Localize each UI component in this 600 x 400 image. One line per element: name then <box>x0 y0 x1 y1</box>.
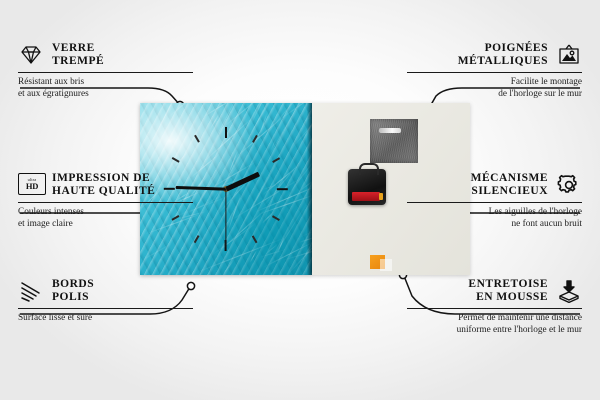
feature-desc-line1: Surface lisse et sûre <box>18 313 92 323</box>
feature-entretoise-en-mousse: ENTRETOISE EN MOUSSE Permet de maintenir… <box>407 278 582 336</box>
clock-tick-mark <box>194 135 199 143</box>
feature-desc-line1: Permet de maintenir une distance <box>458 313 582 323</box>
diamond-icon <box>18 43 44 67</box>
wall-frame-icon <box>556 43 582 67</box>
ultra-hd-icon-big-text: HD <box>26 182 38 191</box>
feather-streak <box>140 103 166 105</box>
feature-title-line1: MÉCANISME <box>471 172 548 184</box>
clock-tick-mark <box>194 235 199 243</box>
infographic-stage: VERRE TREMPÉ Résistant aux bris et aux é… <box>0 0 600 400</box>
feature-divider <box>18 202 193 203</box>
clock-tick-mark <box>272 157 280 162</box>
press-down-pad-icon <box>556 279 582 303</box>
feature-desc-line2: ne font aucun bruit <box>512 219 582 229</box>
clock-tick <box>226 188 288 190</box>
clock-movement <box>348 169 386 205</box>
clock-tick-mark <box>172 157 180 162</box>
feature-title-line2: HAUTE QUALITÉ <box>52 185 155 197</box>
hanger-slot <box>379 128 401 133</box>
feature-title-line2: TREMPÉ <box>52 55 104 67</box>
feature-title-line1: ENTRETOISE <box>468 278 548 290</box>
feature-divider <box>18 308 193 309</box>
feature-title-line1: VERRE <box>52 42 95 54</box>
feature-title-line2: EN MOUSSE <box>476 291 548 303</box>
feather-streak <box>288 205 312 274</box>
clock-tick-mark <box>252 135 257 143</box>
feature-title-line1: BORDS <box>52 278 94 290</box>
battery <box>352 192 380 201</box>
clock-tick-mark <box>277 188 288 190</box>
feature-divider <box>18 72 193 73</box>
feature-title-line2: SILENCIEUX <box>471 185 548 197</box>
feather-streak <box>305 187 312 241</box>
feature-poignees-metalliques: POIGNÉES MÉTALLIQUES Facilite le montage… <box>407 42 582 100</box>
feature-desc-line1: Les aiguilles de l'horloge <box>489 207 582 217</box>
movement-hook <box>359 163 379 175</box>
feature-bords-polis: BORDS POLIS Surface lisse et sûre <box>18 278 193 325</box>
feature-divider <box>407 72 582 73</box>
feature-mecanisme-silencieux: MÉCANISME SILENCIEUX Les aiguilles de l'… <box>407 172 582 230</box>
feature-desc-line1: Résistant aux bris <box>18 77 84 87</box>
feature-desc-line1: Facilite le montage <box>511 77 582 87</box>
feature-desc-line1: Couleurs intenses <box>18 207 84 217</box>
feature-title-line1: POIGNÉES <box>485 42 548 54</box>
feature-divider <box>407 308 582 309</box>
clock-tick <box>225 127 227 189</box>
feature-title-line2: MÉTALLIQUES <box>458 55 548 67</box>
feature-desc-line2: uniforme entre l'horloge et le mur <box>457 325 582 335</box>
metal-hanger-icon <box>370 119 418 163</box>
feature-desc-line2: et aux égratignures <box>18 89 89 99</box>
feature-title-line1: IMPRESSION DE <box>52 172 150 184</box>
gear-icon <box>556 173 582 197</box>
polished-edges-icon <box>18 279 44 303</box>
feature-title-line2: POLIS <box>52 291 89 303</box>
clock-tick-mark <box>252 235 257 243</box>
feature-desc-line2: et image claire <box>18 219 73 229</box>
feather-streak <box>146 109 154 127</box>
feature-verre-trempe: VERRE TREMPÉ Résistant aux bris et aux é… <box>18 42 193 100</box>
feature-desc-line2: de l'horloge sur le mur <box>498 89 582 99</box>
clock-tick-mark <box>225 127 227 138</box>
feature-divider <box>407 202 582 203</box>
ultra-hd-icon: ultra HD <box>18 173 44 197</box>
feature-impression-haute-qualite: ultra HD IMPRESSION DE HAUTE QUALITÉ Cou… <box>18 172 193 230</box>
clock-tick-mark <box>272 215 280 220</box>
feather-streak <box>169 103 197 117</box>
foam-spacer <box>370 255 385 269</box>
